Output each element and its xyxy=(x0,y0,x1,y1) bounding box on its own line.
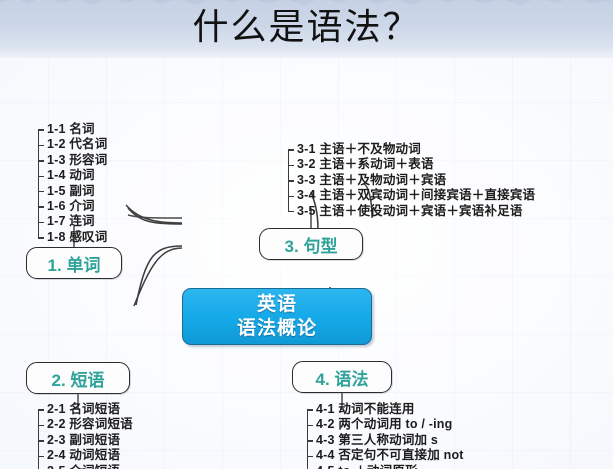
list-item: 3-2 主语＋系动词＋表语 xyxy=(288,157,535,172)
branch-node-sentence-types[interactable]: 3. 句型 xyxy=(259,228,363,260)
list-item: 2-5 介词短语 xyxy=(38,464,133,469)
mindmap-page: 什么是语法？ xyxy=(0,0,613,469)
list-item: 3-5 主语＋使役动词＋宾语＋宾语补足语 xyxy=(288,204,535,219)
list-item: 1-4 动词 xyxy=(38,168,107,183)
list-item: 2-4 动词短语 xyxy=(38,448,133,463)
list-item: 1-7 连词 xyxy=(38,214,107,229)
branch-node-words[interactable]: 1. 单词 xyxy=(26,247,122,279)
list-item: 2-2 形容词短语 xyxy=(38,417,133,432)
leaf-list-phrases: 2-1 名词短语 2-2 形容词短语 2-3 副词短语 2-4 动词短语 2-5… xyxy=(38,402,133,469)
center-node[interactable]: 英语 语法概论 xyxy=(182,288,372,345)
list-item: 1-6 介词 xyxy=(38,199,107,214)
mindmap-canvas: 英语 语法概论 1. 单词 2. 短语 3. 句型 4. 语法 1-1 名词 1… xyxy=(0,58,613,469)
center-node-line2: 语法概论 xyxy=(237,317,317,341)
list-item: 2-3 副词短语 xyxy=(38,433,133,448)
list-item: 4-5 to ＋动词原形 xyxy=(307,464,464,469)
list-item: 3-3 主语＋及物动词＋宾语 xyxy=(288,173,535,188)
leaf-list-words: 1-1 名词 1-2 代名词 1-3 形容词 1-4 动词 1-5 副词 1-6… xyxy=(38,122,107,245)
list-item: 1-8 感叹词 xyxy=(38,230,107,245)
leaf-list-grammar: 4-1 动词不能连用 4-2 两个动词用 to / -ing 4-3 第三人称动… xyxy=(307,402,464,469)
list-item: 4-1 动词不能连用 xyxy=(307,402,464,417)
list-item: 1-1 名词 xyxy=(38,122,107,137)
list-item: 3-1 主语＋不及物动词 xyxy=(288,142,535,157)
list-item: 2-1 名词短语 xyxy=(38,402,133,417)
list-item: 4-4 否定句不可直接加 not xyxy=(307,448,464,463)
list-item: 1-2 代名词 xyxy=(38,137,107,152)
leaf-list-sentence-types: 3-1 主语＋不及物动词 3-2 主语＋系动词＋表语 3-3 主语＋及物动词＋宾… xyxy=(288,142,535,219)
page-title: 什么是语法？ xyxy=(0,2,613,52)
center-node-line1: 英语 xyxy=(257,293,297,317)
branch-node-grammar[interactable]: 4. 语法 xyxy=(292,361,392,393)
list-item: 4-2 两个动词用 to / -ing xyxy=(307,417,464,432)
list-item: 1-3 形容词 xyxy=(38,153,107,168)
branch-node-phrases[interactable]: 2. 短语 xyxy=(26,362,130,394)
list-item: 1-5 副词 xyxy=(38,184,107,199)
list-item: 4-3 第三人称动词加 s xyxy=(307,433,464,448)
title-banner: 什么是语法？ xyxy=(0,0,613,58)
list-item: 3-4 主语＋双宾动词＋间接宾语＋直接宾语 xyxy=(288,188,535,203)
